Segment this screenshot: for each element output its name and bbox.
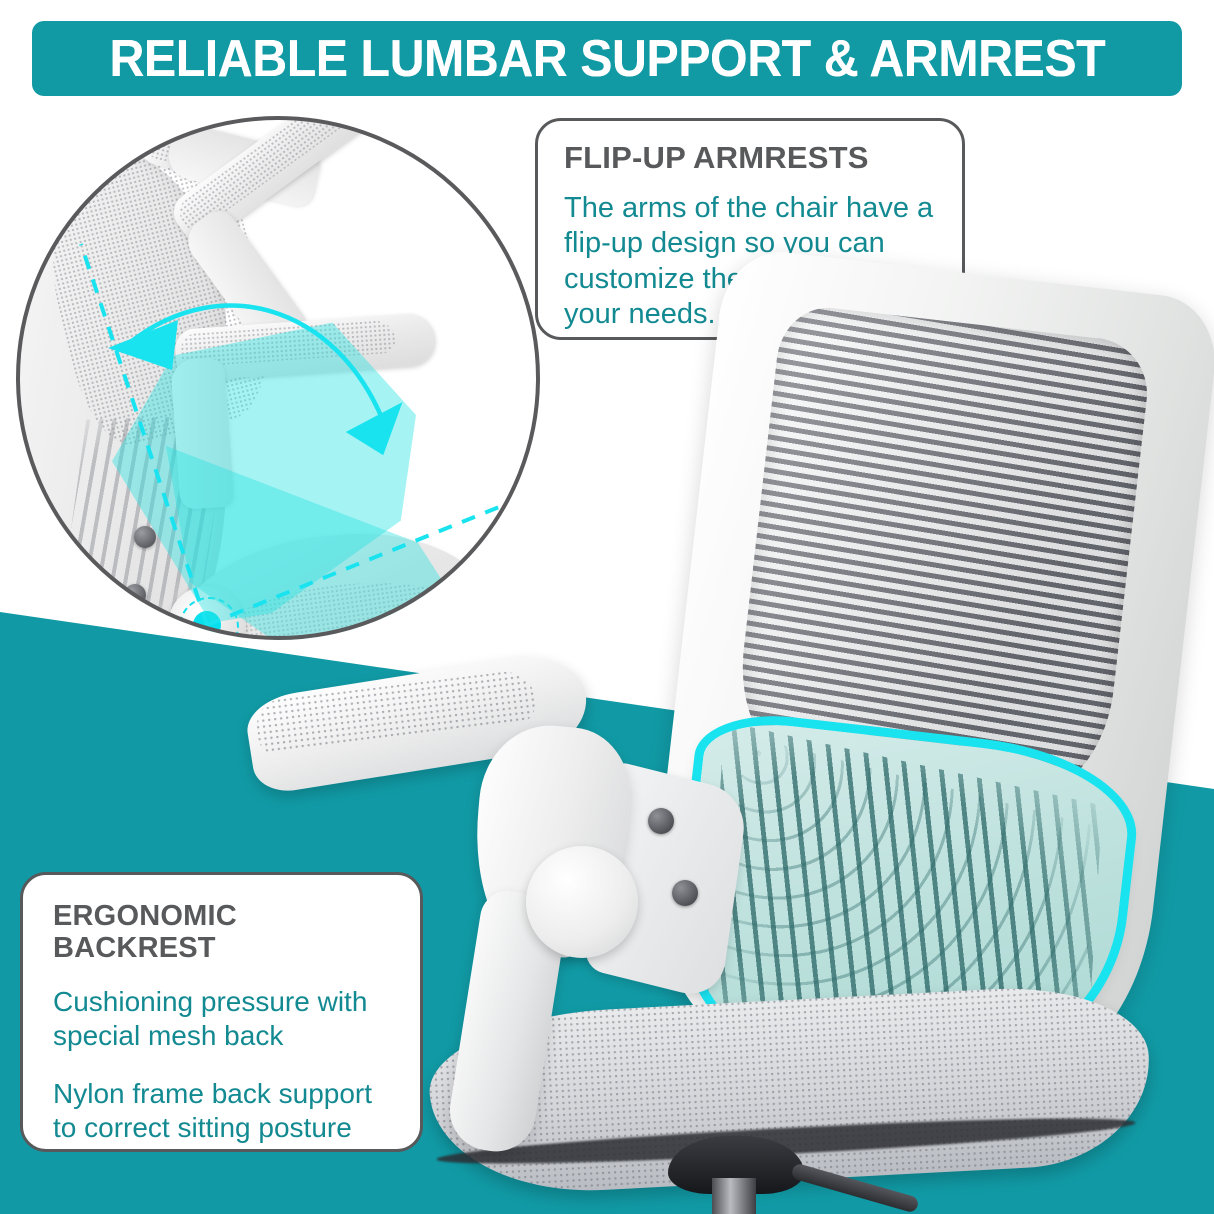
callout-flip-up-armrests: FLIP-UP ARMRESTS The arms of the chair h…: [535, 118, 965, 340]
inset-photo: [16, 116, 540, 640]
callout-ergonomic-backrest: ERGONOMIC BACKREST Cushioning pressure w…: [20, 872, 423, 1152]
callout-title-ergonomic-backrest: ERGONOMIC BACKREST: [53, 901, 392, 965]
callout-body-ergonomic-backrest-1: Cushioning pressure with special mesh ba…: [53, 985, 392, 1053]
infographic-canvas: RELIABLE LUMBAR SUPPORT & ARMREST FLIP-U…: [0, 0, 1214, 1214]
armrest-flip-diagram: [16, 116, 540, 640]
callout-body-flip-up-armrests: The arms of the chair have a flip-up des…: [564, 191, 936, 333]
inset-screw-upper: [134, 526, 156, 548]
callout-title-flip-up-armrests: FLIP-UP ARMRESTS: [564, 141, 936, 175]
inset-screw-lower: [124, 584, 146, 606]
callout-body-ergonomic-backrest-2: Nylon frame back support to correct sitt…: [53, 1077, 392, 1145]
page-title: RELIABLE LUMBAR SUPPORT & ARMREST: [109, 33, 1105, 85]
header-banner: RELIABLE LUMBAR SUPPORT & ARMREST: [32, 21, 1182, 96]
